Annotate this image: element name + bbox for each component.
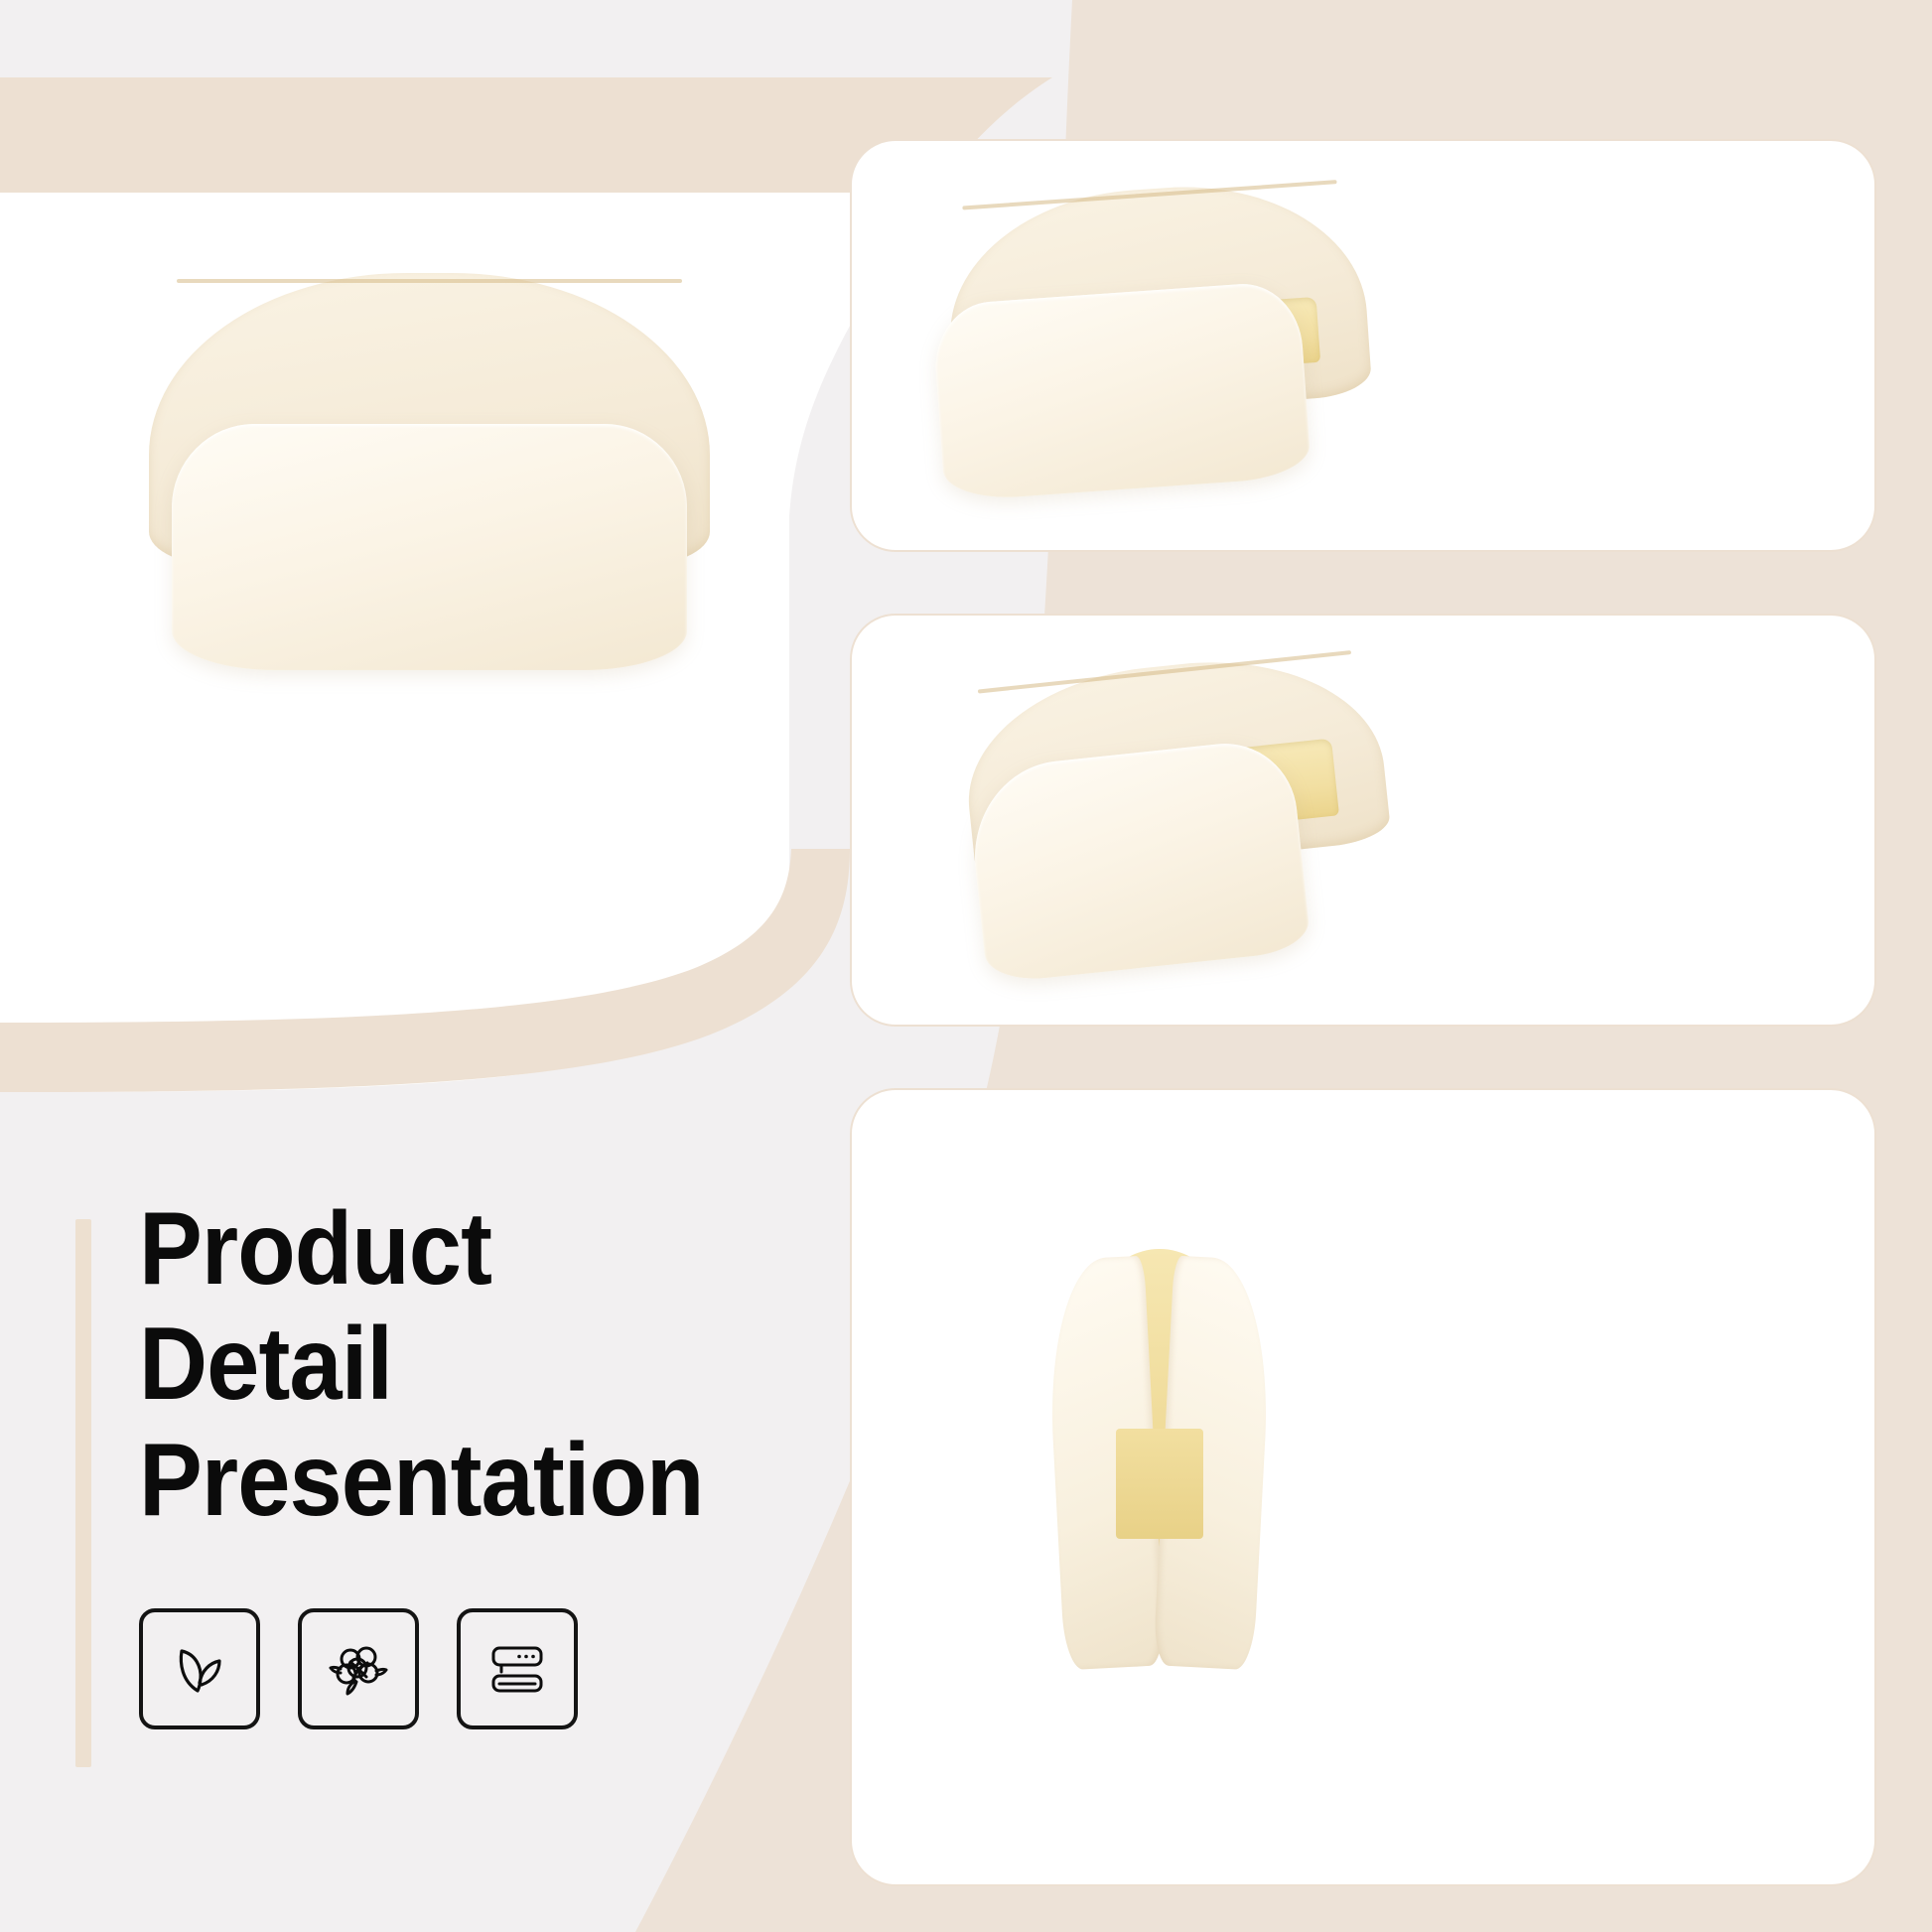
product-detail-presentation-page: Product Detail Presentation	[0, 0, 1932, 1932]
sewing-machine-icon	[485, 1637, 549, 1701]
panel-open-top-view[interactable]	[850, 1088, 1876, 1886]
pouch-front-panel	[965, 737, 1311, 984]
pouch-front-panel	[172, 424, 688, 670]
cotton-boll-icon	[327, 1637, 390, 1701]
badge-eco-leaf[interactable]	[139, 1608, 260, 1729]
page-title-line-1: Product	[139, 1191, 833, 1307]
pouch-front-panel	[931, 280, 1311, 501]
main-product-image	[149, 273, 710, 670]
pouch-seam	[177, 279, 682, 283]
product-image-angle-view	[941, 175, 1378, 501]
badge-sewing[interactable]	[457, 1608, 578, 1729]
pouch-seam	[962, 181, 1336, 210]
leaf-icon	[168, 1637, 231, 1701]
panel-side-view[interactable]	[850, 614, 1876, 1027]
badge-cotton[interactable]	[298, 1608, 419, 1729]
panel-angle-view[interactable]	[850, 139, 1876, 552]
feature-badge-row	[139, 1608, 578, 1729]
product-image-side-view	[956, 644, 1402, 984]
page-title-line-2: Detail	[139, 1307, 833, 1422]
headline-accent-bar	[75, 1219, 91, 1767]
pouch-seam	[978, 650, 1351, 693]
page-title-line-3: Presentation	[139, 1423, 833, 1538]
pouch-inner-pocket	[1116, 1429, 1203, 1540]
product-image-open-top-view	[1050, 1249, 1269, 1676]
page-title: Product Detail Presentation	[139, 1191, 833, 1538]
